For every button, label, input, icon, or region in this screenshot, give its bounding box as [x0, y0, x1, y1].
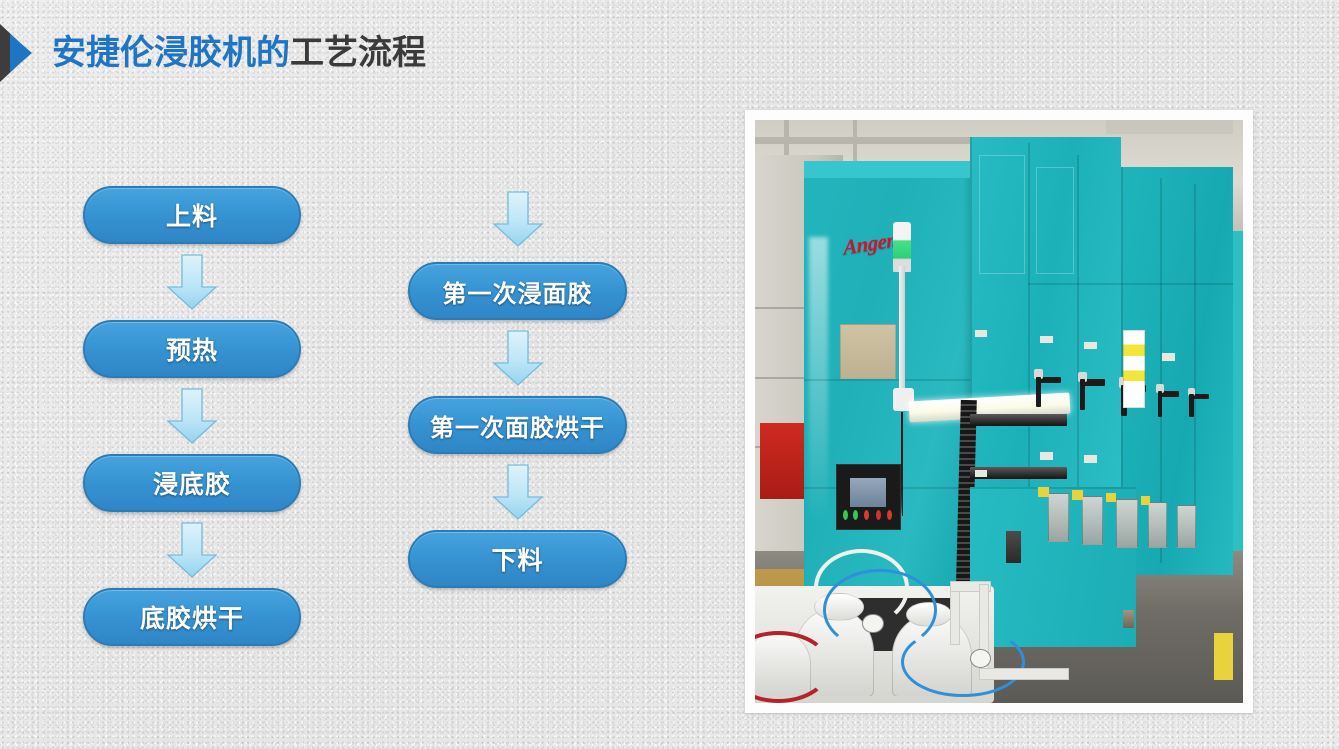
panel-seam [804, 379, 970, 381]
flow-node-jindijiao[interactable]: 浸底胶 [83, 454, 301, 512]
machine-top-edge [804, 161, 970, 178]
yellow-tag [1141, 496, 1151, 505]
sight-window [1177, 505, 1196, 548]
handle-cap [1188, 388, 1195, 396]
flow-node-yure[interactable]: 预热 [83, 320, 301, 378]
cabinet-handle [1080, 379, 1105, 409]
flow-node-dijiaohongan[interactable]: 底胶烘干 [83, 588, 301, 646]
slide-title-row: 安捷伦浸胶机的工艺流程 [0, 22, 426, 84]
panel-label [975, 330, 988, 338]
hmi-button-green [853, 510, 858, 520]
machine-photo-frame: Angem [745, 110, 1253, 713]
flow-arrow-down-icon [161, 251, 223, 313]
flow-column-2: 第一次浸面胶 第一次面胶烘干 下料 [408, 186, 627, 588]
stack-light-icon [893, 222, 911, 272]
panel-label [1084, 342, 1097, 350]
handle-cap [1034, 369, 1043, 379]
panel-inset [979, 155, 1025, 274]
cabinet-hinge [1123, 610, 1134, 629]
machine-gloss-highlight [809, 237, 829, 529]
yellow-tag [1038, 487, 1049, 496]
pipe [950, 584, 960, 644]
stack-light-pole [899, 266, 904, 394]
sight-window [1082, 496, 1104, 545]
page-title: 安捷伦浸胶机的工艺流程 [52, 36, 426, 70]
flow-arrow-down-icon [487, 327, 549, 389]
yellow-tag [1106, 493, 1116, 502]
flow-node-xialiao[interactable]: 下料 [408, 530, 627, 588]
flow-arrow-down-icon [161, 519, 223, 581]
title-marker [0, 22, 52, 84]
warning-label [1123, 330, 1145, 408]
yellow-tag [1072, 490, 1083, 499]
flow-arrow-down-icon [487, 461, 549, 523]
flow-node-diyici-jinmianjiao[interactable]: 第一次浸面胶 [408, 262, 627, 320]
cabinet-latch [1006, 531, 1021, 563]
blue-air-hose [901, 627, 1024, 697]
sight-window [1048, 493, 1070, 542]
sight-window [1148, 502, 1168, 548]
hmi-control-box [836, 464, 901, 530]
handle-cap [1078, 372, 1087, 382]
machine-nameplate [840, 324, 896, 378]
panel-label [1084, 455, 1097, 463]
pipe [979, 668, 1069, 679]
panel-inset [1036, 167, 1075, 274]
lift-rail [970, 414, 1068, 426]
flow-arrow-spacer [487, 193, 549, 255]
machine-photo: Angem [755, 120, 1243, 703]
panel-label [1040, 452, 1053, 460]
panel-label [1040, 336, 1053, 344]
panel-seam [1194, 184, 1196, 545]
flow-column-1: 上料 预热 浸底胶 [83, 186, 301, 646]
pressure-gauge [970, 649, 992, 668]
panel-seam [1028, 283, 1233, 285]
cabinet-handle [1036, 377, 1061, 407]
yellow-tag [1214, 633, 1234, 680]
slide-canvas: 安捷伦浸胶机的工艺流程 上料 预热 浸底胶 [0, 0, 1339, 749]
hmi-button-green [843, 510, 848, 520]
page-title-segment-dark: 工艺流程 [290, 34, 426, 72]
ceiling-beam [1106, 120, 1233, 134]
pressure-gauge [862, 614, 884, 633]
cabinet-handle [1158, 391, 1179, 417]
panel-label [1162, 353, 1175, 361]
hmi-button-red [864, 510, 869, 520]
power-cable [901, 412, 904, 517]
panel-label [975, 470, 988, 478]
flow-arrow-down-icon [161, 385, 223, 447]
hmi-button-red [876, 510, 881, 520]
hmi-button-red [887, 510, 892, 520]
flow-node-diyici-mianjiao-hongan[interactable]: 第一次面胶烘干 [408, 396, 627, 454]
flow-node-shangliao[interactable]: 上料 [83, 186, 301, 244]
sight-window [1116, 499, 1138, 548]
cabinet-handle [1189, 394, 1209, 417]
play-triangle-icon [10, 34, 32, 72]
page-title-segment-blue: 安捷伦浸胶机的 [52, 34, 290, 72]
hmi-screen [850, 478, 886, 507]
handle-cap [1156, 384, 1163, 393]
